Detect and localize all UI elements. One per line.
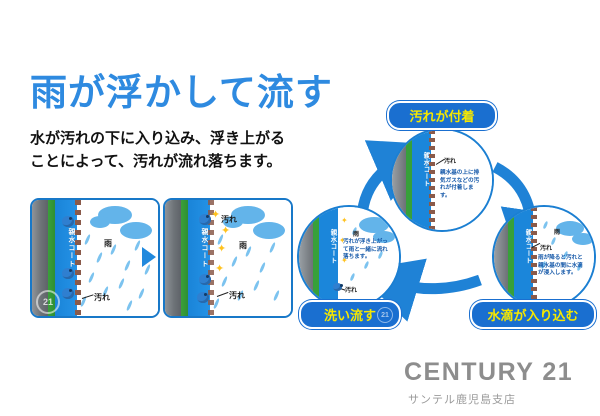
cycle-stage-left: 親水コート ✦ ✦ ✦ 雨 汚れが浮き上がって雨と一緒に流れ落ちます。 汚れ — [297, 205, 401, 309]
dirt-particle — [62, 268, 74, 279]
watermark-21: 21 — [36, 290, 60, 314]
substrate-layer — [165, 200, 181, 316]
illustration-panel-after: 親水コート ✦ ✦ ✦ ✦ 雨 汚れ 汚れ — [163, 198, 293, 318]
stage-badge-left-label: 洗い流す — [324, 305, 376, 324]
cloud-icon — [120, 222, 152, 239]
grime-edge — [75, 200, 81, 316]
dirt-particle — [62, 288, 74, 299]
dirt-particle — [62, 216, 74, 227]
cloud-icon — [572, 233, 594, 245]
arrow-right-to-left — [394, 280, 480, 289]
rain-label: 雨 — [554, 227, 560, 236]
primer-layer — [181, 200, 188, 316]
dirt-label: 汚れ — [94, 292, 110, 303]
dirt-particle — [197, 292, 209, 303]
coat-label: 親水コート — [57, 228, 75, 268]
stage-badge-right: 水滴が入り込む — [470, 300, 596, 329]
stage-badge-top: 汚れが付着 — [387, 101, 497, 130]
dirt-particle — [333, 283, 342, 291]
page-subtitle: 水が汚れの下に入り込み、浮き上がることによって、汚れが流れ落ちます。 — [30, 128, 292, 173]
century21-logo: CENTURY 21 — [404, 358, 573, 387]
rain-label: 雨 — [353, 229, 359, 238]
rain-label: 雨 — [239, 240, 247, 251]
dirt-particle — [199, 274, 211, 285]
cycle-stage-right: 親水コート 雨 汚れ 雨が降ると汚れと親水基の間に水滴が浸入します。 — [492, 205, 596, 309]
cycle-stage-top: 親水コート 汚れ 親水基の上に排気ガスなどの汚れが付着します。 — [390, 128, 494, 232]
stage-description: 雨が降ると汚れと親水基の間に水滴が浸入します。 — [538, 255, 586, 278]
page-title: 雨が浮かして流す — [30, 74, 333, 111]
cloud-icon — [253, 222, 285, 239]
coat-label: 親水コート — [321, 229, 336, 264]
slide-canvas: 雨が浮かして流す 水が汚れの下に入り込み、浮き上がることによって、汚れが流れ落ち… — [0, 0, 600, 416]
grime-edge — [429, 130, 435, 230]
branch-name: サンテル鹿児島支店 — [408, 391, 516, 407]
watermark-21: 21 — [377, 307, 393, 323]
dirt-label: 汚れ — [229, 290, 245, 301]
substrate-layer — [494, 207, 508, 307]
dirt-label-top: 汚れ — [221, 214, 237, 225]
dirt-particle — [199, 214, 211, 225]
substrate-layer — [299, 207, 313, 307]
stage-badge-left: 洗い流す 21 — [299, 300, 401, 329]
coat-label: 親水コート — [190, 228, 208, 268]
coat-label: 親水コート — [516, 229, 531, 264]
stage-description: 汚れが浮き上がって雨と一緒に流れ落ちます。 — [343, 239, 391, 262]
dirt-callout: 汚れ — [444, 156, 456, 165]
dirt-callout: 汚れ — [345, 285, 357, 294]
illustration-panel-before: 親水コート 雨 汚れ 21 — [30, 198, 160, 318]
dirt-callout: 汚れ — [540, 243, 552, 252]
transition-arrow-icon — [142, 247, 156, 267]
stage-description: 親水基の上に排気ガスなどの汚れが付着します。 — [440, 170, 484, 200]
coat-label: 親水コート — [414, 152, 429, 187]
cloud-icon — [90, 216, 110, 228]
grime-edge — [531, 207, 537, 307]
rain-label: 雨 — [104, 238, 112, 249]
